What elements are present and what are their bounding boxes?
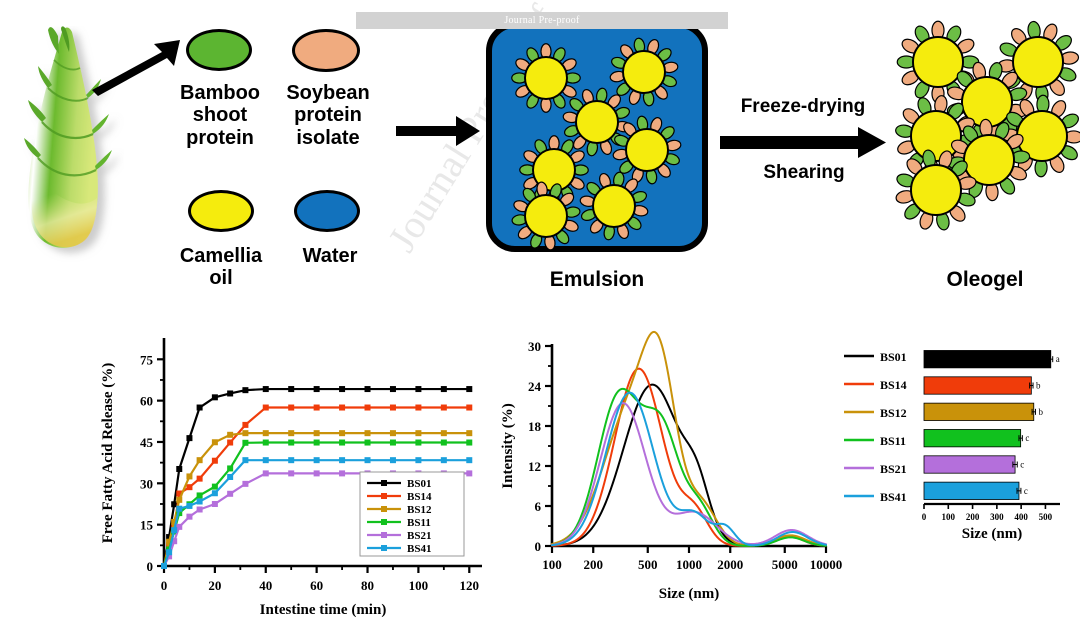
svg-text:20: 20	[208, 578, 221, 593]
svg-text:200: 200	[583, 557, 603, 572]
svg-text:BS12: BS12	[880, 406, 907, 420]
process-label-shearing: Shearing	[718, 162, 890, 183]
arrow-bamboo-to-ingredients	[88, 38, 183, 98]
ingredient-oval-soybean-protein-isolate	[292, 29, 360, 72]
process-label-freeze-drying: Freeze-drying	[718, 96, 888, 117]
ingredient-oval-water	[294, 190, 360, 232]
ingredient-line: oil	[171, 267, 271, 289]
svg-text:BS14: BS14	[880, 378, 907, 392]
svg-text:75: 75	[140, 352, 154, 367]
ingredient-line: Water	[280, 245, 380, 267]
ingredient-label-water: Water	[280, 245, 380, 267]
svg-text:60: 60	[140, 394, 153, 409]
svg-text:30: 30	[140, 476, 153, 491]
svg-text:Intestine time (min): Intestine time (min)	[260, 602, 387, 618]
svg-text:120: 120	[460, 578, 480, 593]
arrow-ingredients-to-emulsion	[394, 112, 484, 152]
svg-text:30: 30	[528, 339, 541, 354]
journal-preproof-banner-text: Journal Pre-proof	[356, 12, 728, 29]
ingredient-line: protein	[278, 104, 378, 126]
svg-text:24: 24	[528, 379, 542, 394]
svg-text:Size (nm): Size (nm)	[962, 526, 1022, 542]
svg-text:15: 15	[140, 518, 154, 533]
svg-text:c: c	[1024, 486, 1028, 496]
svg-text:10000: 10000	[810, 557, 843, 572]
svg-text:100: 100	[542, 557, 562, 572]
oleogel-cluster	[890, 18, 1080, 238]
stage-label-oleogel: Oleogel	[900, 268, 1070, 292]
ingredient-line: Camellia	[171, 245, 271, 267]
svg-text:BS41: BS41	[880, 490, 907, 504]
svg-text:45: 45	[140, 435, 154, 450]
svg-text:18: 18	[528, 419, 542, 434]
ingredient-label-camellia-oil: Camellia oil	[171, 245, 271, 290]
svg-text:BS01: BS01	[880, 350, 907, 364]
ingredient-line: Soybean	[278, 82, 378, 104]
svg-text:400: 400	[1014, 512, 1028, 522]
svg-text:0: 0	[147, 559, 154, 574]
stage-label-emulsion: Emulsion	[505, 268, 689, 292]
svg-text:a: a	[1056, 354, 1060, 364]
svg-text:Free Fatty Acid Release (%): Free Fatty Acid Release (%)	[100, 363, 116, 544]
ingredient-label-bamboo-shoot-protein: Bamboo shoot protein	[170, 82, 270, 149]
ingredient-line: Bamboo	[170, 82, 270, 104]
svg-text:80: 80	[361, 578, 374, 593]
svg-text:c: c	[1025, 433, 1029, 443]
svg-text:0: 0	[922, 512, 927, 522]
svg-text:BS11: BS11	[880, 434, 906, 448]
svg-text:BS01: BS01	[407, 478, 431, 490]
svg-text:BS41: BS41	[407, 543, 431, 555]
svg-text:b: b	[1038, 407, 1043, 417]
svg-text:200: 200	[966, 512, 980, 522]
ffa-release-chart: 01530456075020406080100120Intestine time…	[92, 322, 492, 622]
svg-text:BS12: BS12	[407, 504, 432, 516]
svg-text:BS14: BS14	[407, 491, 432, 503]
svg-text:100: 100	[409, 578, 429, 593]
svg-text:Size (nm): Size (nm)	[659, 586, 719, 602]
svg-text:300: 300	[990, 512, 1004, 522]
svg-text:1000: 1000	[676, 557, 702, 572]
ingredient-line: shoot	[170, 104, 270, 126]
svg-text:Intensity (%): Intensity (%)	[500, 403, 516, 488]
svg-text:c: c	[1020, 460, 1024, 470]
svg-text:6: 6	[535, 499, 542, 514]
svg-text:500: 500	[1039, 512, 1053, 522]
ingredient-label-soybean-protein-isolate: Soybean protein isolate	[278, 82, 378, 149]
svg-text:0: 0	[161, 578, 168, 593]
ingredient-oval-bamboo-shoot-protein	[186, 29, 252, 71]
svg-text:BS21: BS21	[880, 462, 907, 476]
svg-text:BS11: BS11	[407, 517, 431, 529]
emulsion-container	[484, 20, 710, 254]
ingredient-oval-camellia-oil	[188, 190, 254, 232]
svg-text:100: 100	[942, 512, 956, 522]
svg-text:BS21: BS21	[407, 530, 431, 542]
svg-text:5000: 5000	[772, 557, 798, 572]
graphical-abstract: Bamboo shoot protein Soybean protein iso…	[0, 0, 1080, 626]
ingredient-line: protein	[170, 127, 270, 149]
svg-text:500: 500	[638, 557, 658, 572]
svg-text:60: 60	[310, 578, 323, 593]
ingredient-line: isolate	[278, 127, 378, 149]
svg-text:0: 0	[535, 539, 542, 554]
svg-text:12: 12	[528, 459, 541, 474]
particle-size-distribution-chart: 061218243010020050010002000500010000Size…	[496, 328, 1076, 620]
journal-preproof-banner: Journal Pre-proof	[356, 12, 728, 29]
svg-text:40: 40	[259, 578, 272, 593]
svg-text:b: b	[1036, 381, 1041, 391]
svg-text:2000: 2000	[717, 557, 743, 572]
arrow-freeze-drying	[718, 126, 890, 160]
